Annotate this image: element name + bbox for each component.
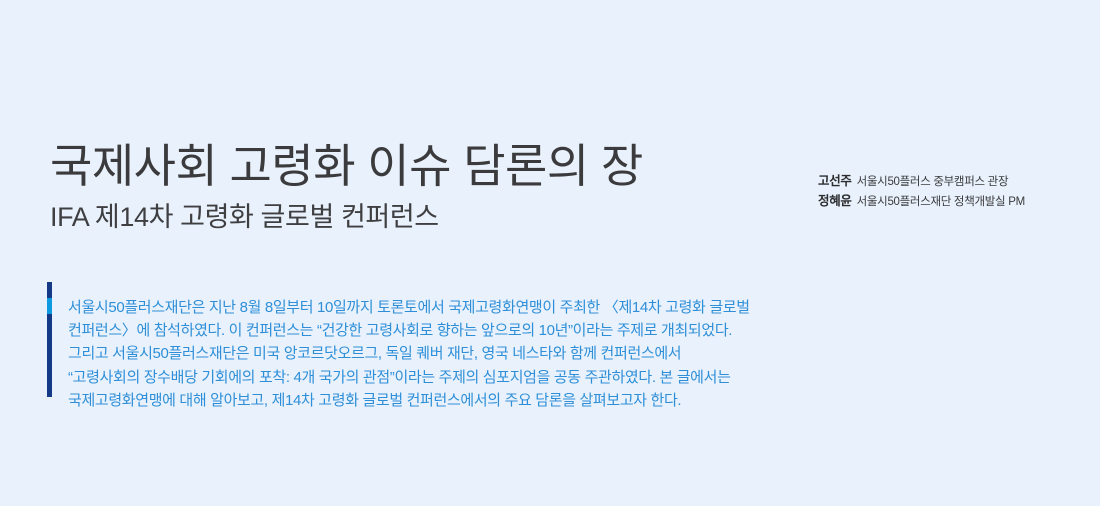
lead-paragraph-line: 컨퍼런스〉에 참석하였다. 이 컨퍼런스는 “건강한 고령사회로 향하는 앞으로… xyxy=(68,319,1058,342)
lead-paragraph-line: 서울시50플러스재단은 지난 8월 8일부터 10일까지 토론토에서 국제고령화… xyxy=(68,296,1058,319)
article-header: 국제사회 고령화 이슈 담론의 장 IFA 제14차 고령화 글로벌 컨퍼런스 … xyxy=(0,0,1100,240)
author-name: 정혜윤 xyxy=(818,194,852,208)
article-page: 국제사회 고령화 이슈 담론의 장 IFA 제14차 고령화 글로벌 컨퍼런스 … xyxy=(0,0,1100,506)
byline: 고선주서울시50플러스 중부캠퍼스 관장 정혜윤서울시50플러스재단 정책개발실… xyxy=(818,172,1088,212)
accent-bar xyxy=(47,282,52,397)
lead-paragraph-line: “고령사회의 장수배당 기회에의 포착: 4개 국가의 관점”이라는 주제의 심… xyxy=(68,366,1058,389)
author-entry: 고선주서울시50플러스 중부캠퍼스 관장 xyxy=(818,172,1088,191)
author-affiliation: 서울시50플러스 중부캠퍼스 관장 xyxy=(857,176,1009,188)
lead-paragraph: 서울시50플러스재단은 지난 8월 8일부터 10일까지 토론토에서 국제고령화… xyxy=(68,296,1058,412)
accent-bar-highlight-segment xyxy=(47,298,52,314)
author-entry: 정혜윤서울시50플러스재단 정책개발실 PM xyxy=(818,192,1088,211)
page-subtitle: IFA 제14차 고령화 글로벌 컨퍼런스 xyxy=(50,200,439,234)
lead-paragraph-line: 국제고령화연맹에 대해 알아보고, 제14차 고령화 글로벌 컨퍼런스에서의 주… xyxy=(68,389,1058,412)
author-affiliation: 서울시50플러스재단 정책개발실 PM xyxy=(857,196,1025,208)
page-title: 국제사회 고령화 이슈 담론의 장 xyxy=(50,138,643,194)
lead-paragraph-line: 그리고 서울시50플러스재단은 미국 앙코르닷오르그, 독일 퀘버 재단, 영국… xyxy=(68,342,1058,365)
author-name: 고선주 xyxy=(818,174,852,188)
